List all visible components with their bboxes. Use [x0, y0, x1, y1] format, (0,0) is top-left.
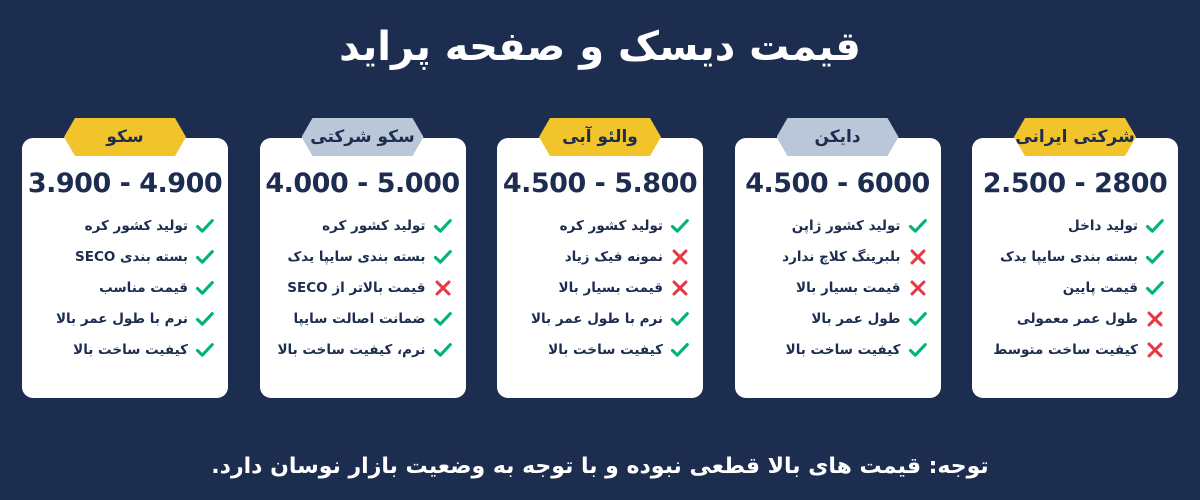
- check-icon: [1144, 277, 1166, 299]
- pricing-card: دایکن4.500 - 6000تولید کشور ژاپنبلبرینگ …: [735, 138, 941, 398]
- pricing-card: والئو آبی4.500 - 5.800تولید کشور کرهنمون…: [497, 138, 703, 398]
- cross-icon: [669, 246, 691, 268]
- feature-label: بسته بندی سایپا یدک: [287, 249, 425, 265]
- cross-icon: [432, 277, 454, 299]
- feature-list: تولید داخلبسته بندی سایپا یدکقیمت پایینط…: [980, 210, 1170, 365]
- feature-label: ضمانت اصالت سایپا: [293, 311, 425, 327]
- check-icon: [432, 246, 454, 268]
- check-icon: [194, 339, 216, 361]
- feature-row: تولید کشور کره: [268, 210, 458, 241]
- card-price: 4.000 - 5.000: [260, 168, 466, 199]
- card-badge-label: سکو شرکتی: [310, 127, 415, 147]
- feature-label: تولید داخل: [1068, 218, 1138, 234]
- feature-row: نرم با طول عمر بالا: [30, 303, 220, 334]
- feature-row: کیفیت ساخت متوسط: [980, 334, 1170, 365]
- check-icon: [194, 215, 216, 237]
- feature-label: طول عمر بالا: [811, 311, 900, 327]
- card-badge: شرکتی ایرانی: [1014, 118, 1136, 156]
- feature-row: تولید کشور ژاپن: [743, 210, 933, 241]
- check-icon: [1144, 246, 1166, 268]
- feature-label: تولید کشور کره: [322, 218, 425, 234]
- card-badge-label: والئو آبی: [562, 127, 638, 147]
- feature-row: تولید کشور کره: [30, 210, 220, 241]
- feature-row: قیمت مناسب: [30, 272, 220, 303]
- feature-label: قیمت پایین: [1063, 280, 1138, 296]
- feature-row: قیمت پایین: [980, 272, 1170, 303]
- feature-row: بسته بندی SECO: [30, 241, 220, 272]
- check-icon: [669, 339, 691, 361]
- feature-row: طول عمر بالا: [743, 303, 933, 334]
- pricing-cards-row: سکو3.900 - 4.900تولید کشور کرهبسته بندی …: [22, 138, 1178, 400]
- cross-icon: [1144, 339, 1166, 361]
- card-badge-label: دایکن: [814, 127, 860, 147]
- cross-icon: [669, 277, 691, 299]
- card-badge: دایکن: [777, 118, 899, 156]
- cross-icon: [907, 246, 929, 268]
- feature-row: کیفیت ساخت بالا: [30, 334, 220, 365]
- feature-row: نرم با طول عمر بالا: [505, 303, 695, 334]
- page-title: قیمت دیسک و صفحه پراید: [0, 22, 1200, 72]
- footer-note: توجه: قیمت های بالا قطعی نبوده و با توجه…: [0, 453, 1200, 482]
- feature-row: تولید کشور کره: [505, 210, 695, 241]
- pricing-card: سکو3.900 - 4.900تولید کشور کرهبسته بندی …: [22, 138, 228, 398]
- feature-label: بسته بندی SECO: [75, 249, 188, 265]
- card-badge: سکو: [64, 118, 186, 156]
- feature-row: تولید داخل: [980, 210, 1170, 241]
- feature-list: تولید کشور ژاپنبلبرینگ کلاچ نداردقیمت بس…: [743, 210, 933, 365]
- cross-icon: [907, 277, 929, 299]
- card-badge-label: شرکتی ایرانی: [1015, 127, 1134, 147]
- check-icon: [432, 308, 454, 330]
- pricing-card: شرکتی ایرانی2.500 - 2800تولید داخلبسته ب…: [972, 138, 1178, 398]
- check-icon: [432, 339, 454, 361]
- check-icon: [194, 308, 216, 330]
- feature-label: تولید کشور کره: [85, 218, 188, 234]
- check-icon: [907, 215, 929, 237]
- feature-row: کیفیت ساخت بالا: [505, 334, 695, 365]
- card-badge: والئو آبی: [539, 118, 661, 156]
- check-icon: [907, 339, 929, 361]
- feature-label: قیمت بالاتر از SECO: [287, 280, 425, 296]
- check-icon: [194, 246, 216, 268]
- feature-label: کیفیت ساخت متوسط: [993, 342, 1138, 358]
- feature-list: تولید کشور کرهنمونه فیک زیادقیمت بسیار ب…: [505, 210, 695, 365]
- feature-list: تولید کشور کرهبسته بندی سایپا یدکقیمت با…: [268, 210, 458, 365]
- feature-label: تولید کشور کره: [560, 218, 663, 234]
- pricing-card: سکو شرکتی4.000 - 5.000تولید کشور کرهبسته…: [260, 138, 466, 398]
- check-icon: [1144, 215, 1166, 237]
- card-badge-label: سکو: [106, 127, 143, 147]
- feature-row: ضمانت اصالت سایپا: [268, 303, 458, 334]
- card-price: 4.500 - 5.800: [497, 168, 703, 199]
- feature-label: طول عمر معمولی: [1017, 311, 1138, 327]
- feature-label: نرم با طول عمر بالا: [531, 311, 663, 327]
- feature-label: قیمت بسیار بالا: [796, 280, 900, 296]
- feature-label: کیفیت ساخت بالا: [548, 342, 663, 358]
- feature-label: نمونه فیک زیاد: [565, 249, 663, 265]
- card-price: 2.500 - 2800: [972, 168, 1178, 199]
- feature-row: قیمت بالاتر از SECO: [268, 272, 458, 303]
- feature-row: بسته بندی سایپا یدک: [980, 241, 1170, 272]
- feature-label: تولید کشور ژاپن: [792, 218, 901, 234]
- feature-row: قیمت بسیار بالا: [743, 272, 933, 303]
- feature-label: بلبرینگ کلاچ ندارد: [782, 249, 900, 265]
- check-icon: [432, 215, 454, 237]
- check-icon: [669, 308, 691, 330]
- feature-label: کیفیت ساخت بالا: [786, 342, 901, 358]
- card-badge: سکو شرکتی: [302, 118, 424, 156]
- check-icon: [669, 215, 691, 237]
- feature-row: نرم، کیفیت ساخت بالا: [268, 334, 458, 365]
- feature-row: کیفیت ساخت بالا: [743, 334, 933, 365]
- cross-icon: [1144, 308, 1166, 330]
- card-price: 3.900 - 4.900: [22, 168, 228, 199]
- feature-label: نرم با طول عمر بالا: [56, 311, 188, 327]
- feature-row: نمونه فیک زیاد: [505, 241, 695, 272]
- infographic-page: قیمت دیسک و صفحه پراید سکو3.900 - 4.900ت…: [0, 0, 1200, 500]
- feature-label: قیمت بسیار بالا: [559, 280, 663, 296]
- feature-label: نرم، کیفیت ساخت بالا: [277, 342, 425, 358]
- check-icon: [194, 277, 216, 299]
- feature-label: کیفیت ساخت بالا: [73, 342, 188, 358]
- card-price: 4.500 - 6000: [735, 168, 941, 199]
- feature-list: تولید کشور کرهبسته بندی SECOقیمت مناسبنر…: [30, 210, 220, 365]
- feature-label: بسته بندی سایپا یدک: [1000, 249, 1138, 265]
- feature-label: قیمت مناسب: [99, 280, 188, 296]
- feature-row: بسته بندی سایپا یدک: [268, 241, 458, 272]
- check-icon: [907, 308, 929, 330]
- feature-row: بلبرینگ کلاچ ندارد: [743, 241, 933, 272]
- feature-row: قیمت بسیار بالا: [505, 272, 695, 303]
- feature-row: طول عمر معمولی: [980, 303, 1170, 334]
